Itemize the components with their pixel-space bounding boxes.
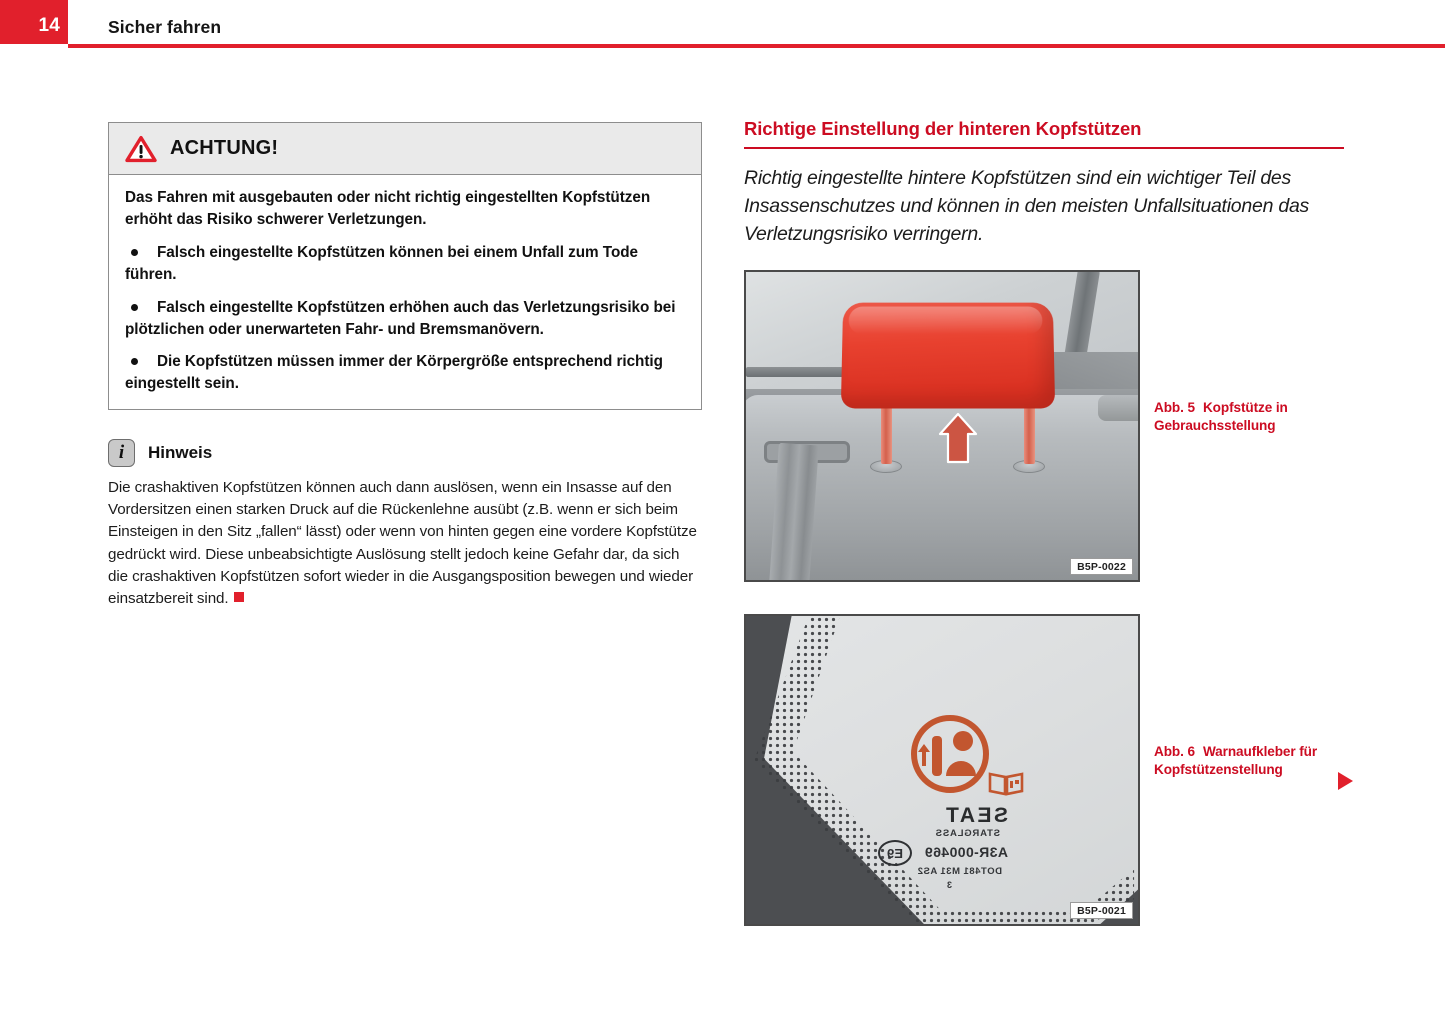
warning-box-header: ACHTUNG! [109,123,701,175]
figure5-headrest-post-left [881,404,892,464]
page-header: 14 Sicher fahren [0,0,1445,48]
figure-6-image: SEAT STARGLASS A3R-000469 E9 DOT481 M31 … [744,614,1140,926]
bullet-dot-icon [131,304,138,311]
note-title: Hinweis [148,443,212,463]
section-end-marker-icon [234,592,244,602]
left-column: ACHTUNG! Das Fahren mit ausgebauten oder… [108,122,702,611]
note-header: i Hinweis [108,438,702,468]
header-divider-rule [68,44,1445,48]
list-item: Falsch eingestellte Kopfstützen erhöhen … [125,297,685,340]
sticker-brand: SEAT [944,804,1008,828]
bullet-text: Falsch eingestellte Kopfstützen können b… [125,242,685,285]
info-icon: i [108,439,135,467]
list-item: Falsch eingestellte Kopfstützen können b… [125,242,685,285]
figure5-headrest [841,303,1055,409]
figure-6-code: B5P-0021 [1070,902,1133,919]
warning-box-title: ACHTUNG! [170,137,278,160]
figure-5-caption-number: Abb. 5 [1154,400,1195,415]
section-heading: Richtige Einstellung der hinteren Kopfst… [744,118,1344,147]
sticker-line-starglass: STARGLASS [935,828,1000,839]
note-block: i Hinweis Die crashaktiven Kopfstützen k… [108,438,702,611]
warning-box-body: Das Fahren mit ausgebauten oder nicht ri… [109,175,701,409]
figure-5: B5P-0022 [744,270,1140,582]
note-paragraph: Die crashaktiven Kopfstützen können auch… [108,479,697,608]
figure-5-image: B5P-0022 [744,270,1140,582]
figure-6-caption: Abb. 6Warnaufkleber für Kopfstützenstell… [1154,743,1362,780]
sticker-line-number: 3 [947,880,952,890]
sticker-approval-mark: E9 [878,840,912,866]
figure-5-code: B5P-0022 [1070,558,1133,575]
right-column: Richtige Einstellung der hinteren Kopfst… [744,118,1344,248]
page-number: 14 [0,15,60,37]
section-heading-rule [744,147,1344,149]
sticker-line-dot-code: DOT481 M31 AS2 [917,866,1002,877]
warning-bullet-list: Falsch eingestellte Kopfstützen können b… [125,242,685,394]
manual-book-icon [988,770,1024,796]
figure5-side-notch [1098,395,1138,421]
list-item: Die Kopfstützen müssen immer der Körperg… [125,351,685,394]
page-title: Sicher fahren [108,17,221,38]
figure6-warning-sticker: SEAT STARGLASS A3R-000469 E9 DOT481 M31 … [864,714,1024,894]
warning-triangle-icon [125,135,157,163]
figure5-headrest-post-right [1024,404,1035,464]
sticker-line-partnumber: A3R-000469 [925,844,1008,860]
figure-6: SEAT STARGLASS A3R-000469 E9 DOT481 M31 … [744,614,1140,926]
section-intro-text: Richtig eingestellte hintere Kopfstützen… [744,164,1344,248]
next-page-arrow-icon [1338,772,1353,790]
figure-5-caption: Abb. 5Kopfstütze in Gebrauchsstellung [1154,399,1362,436]
bullet-text: Die Kopfstützen müssen immer der Körperg… [125,351,685,394]
up-arrow-icon [938,412,978,464]
figure-6-caption-number: Abb. 6 [1154,744,1195,759]
warning-lead-text: Das Fahren mit ausgebauten oder nicht ri… [125,187,685,230]
warning-box: ACHTUNG! Das Fahren mit ausgebauten oder… [108,122,702,410]
bullet-text: Falsch eingestellte Kopfstützen erhöhen … [125,297,685,340]
note-body-text: Die crashaktiven Kopfstützen können auch… [108,477,702,611]
headrest-adjust-pictogram-icon [902,714,998,794]
